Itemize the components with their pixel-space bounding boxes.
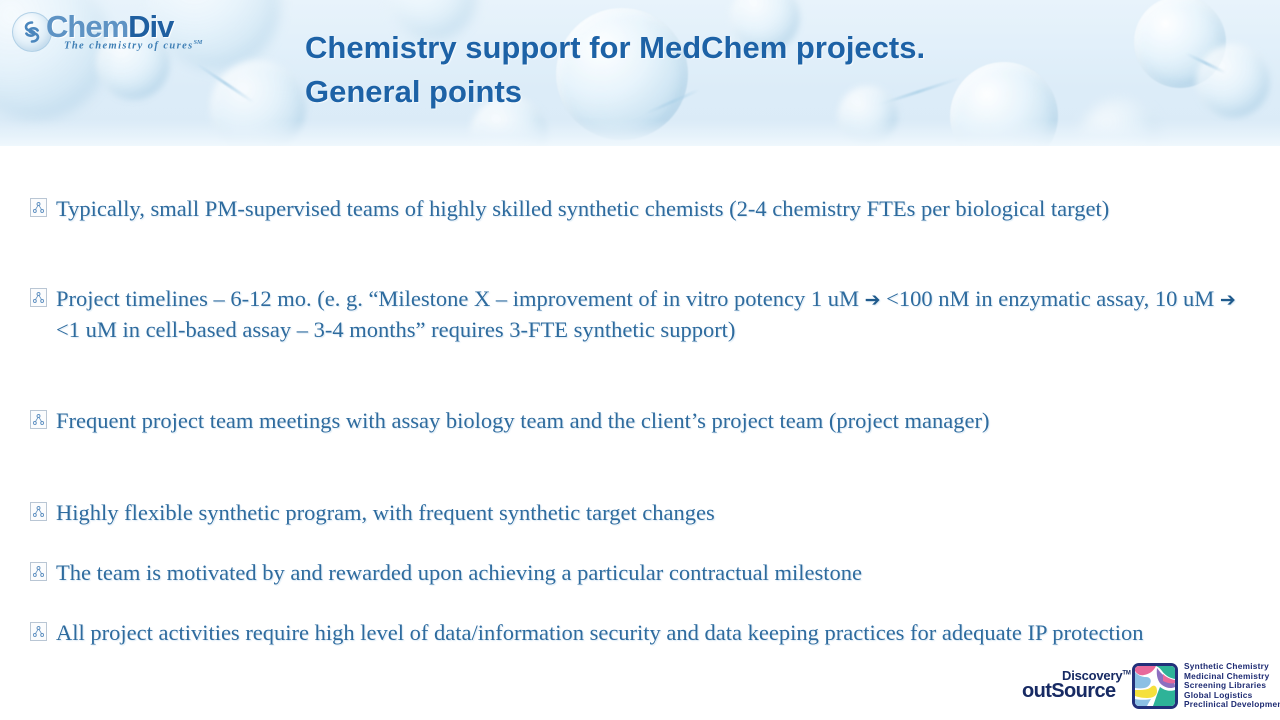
dos-services-list: Synthetic ChemistryMedicinal ChemistrySc… bbox=[1184, 662, 1280, 710]
page-title: Chemistry support for MedChem projects. … bbox=[305, 26, 1145, 114]
bullet-item: Typically, small PM-supervised teams of … bbox=[30, 194, 1245, 224]
bullet-item: Highly flexible synthetic program, with … bbox=[30, 498, 1245, 528]
dos-brand-main-light: out bbox=[1022, 680, 1051, 702]
slide-header: ChemDiv The chemistry of curesSM Chemist… bbox=[0, 0, 1280, 146]
decorative-bubble bbox=[1196, 44, 1270, 118]
arrow-icon: ➔ bbox=[1220, 289, 1236, 311]
molecule-box-icon bbox=[30, 502, 47, 521]
text-run: Typically, small PM-supervised teams of … bbox=[56, 196, 1109, 221]
molecule-box-icon bbox=[30, 562, 47, 581]
tagline-text: The chemistry of cures bbox=[64, 41, 194, 52]
logo-name-part1: Chem bbox=[46, 9, 128, 44]
bullet-item: The team is motivated by and rewarded up… bbox=[30, 558, 1245, 588]
bullet-text: Typically, small PM-supervised teams of … bbox=[56, 194, 1245, 224]
dos-brand-main-bold: Source bbox=[1051, 680, 1115, 702]
text-run: The team is motivated by and rewarded up… bbox=[56, 560, 862, 585]
bullet-item: All project activities require high leve… bbox=[30, 618, 1245, 648]
header-bottom-fade bbox=[0, 120, 1280, 146]
slide-body: Typically, small PM-supervised teams of … bbox=[0, 146, 1280, 720]
molecule-box-icon bbox=[30, 198, 47, 217]
molecule-box-icon bbox=[30, 288, 47, 307]
discovery-outsource-logo: DiscoveryTM outSource Synthetic Chemistr… bbox=[1022, 662, 1274, 712]
bullet-text: All project activities require high leve… bbox=[56, 618, 1245, 648]
arrow-icon: ➔ bbox=[865, 289, 881, 311]
molecule-box-icon bbox=[30, 410, 47, 429]
logo-name-part2: Div bbox=[128, 9, 173, 44]
text-run: Highly flexible synthetic program, with … bbox=[56, 500, 715, 525]
dos-colorblocks-icon bbox=[1132, 663, 1178, 709]
dos-service-line: Preclinical Development bbox=[1184, 700, 1280, 710]
text-run: <1 uM in cell-based assay – 3-4 months” … bbox=[56, 317, 735, 342]
chemdiv-tagline: The chemistry of curesSM bbox=[64, 40, 202, 52]
text-run: Frequent project team meetings with assa… bbox=[56, 408, 989, 433]
text-run: Project timelines – 6-12 mo. (e. g. “Mil… bbox=[56, 286, 865, 311]
bullet-text: Project timelines – 6-12 mo. (e. g. “Mil… bbox=[56, 284, 1245, 345]
bullet-text: Frequent project team meetings with assa… bbox=[56, 406, 1245, 436]
molecule-box-icon bbox=[30, 622, 47, 641]
text-run: All project activities require high leve… bbox=[56, 620, 1144, 645]
bullet-text: The team is motivated by and rewarded up… bbox=[56, 558, 1245, 588]
dos-wordmark: DiscoveryTM outSource bbox=[1022, 668, 1140, 704]
text-run: <100 nM in enzymatic assay, 10 uM bbox=[881, 286, 1220, 311]
bullet-text: Highly flexible synthetic program, with … bbox=[56, 498, 1245, 528]
chemdiv-logo: ChemDiv The chemistry of curesSM bbox=[12, 7, 222, 55]
dos-trademark-mark: TM bbox=[1122, 671, 1130, 677]
dos-outsource-text: outSource bbox=[1022, 680, 1116, 703]
bullet-item: Project timelines – 6-12 mo. (e. g. “Mil… bbox=[30, 284, 1245, 345]
bullet-item: Frequent project team meetings with assa… bbox=[30, 406, 1245, 436]
tagline-mark: SM bbox=[194, 40, 203, 46]
